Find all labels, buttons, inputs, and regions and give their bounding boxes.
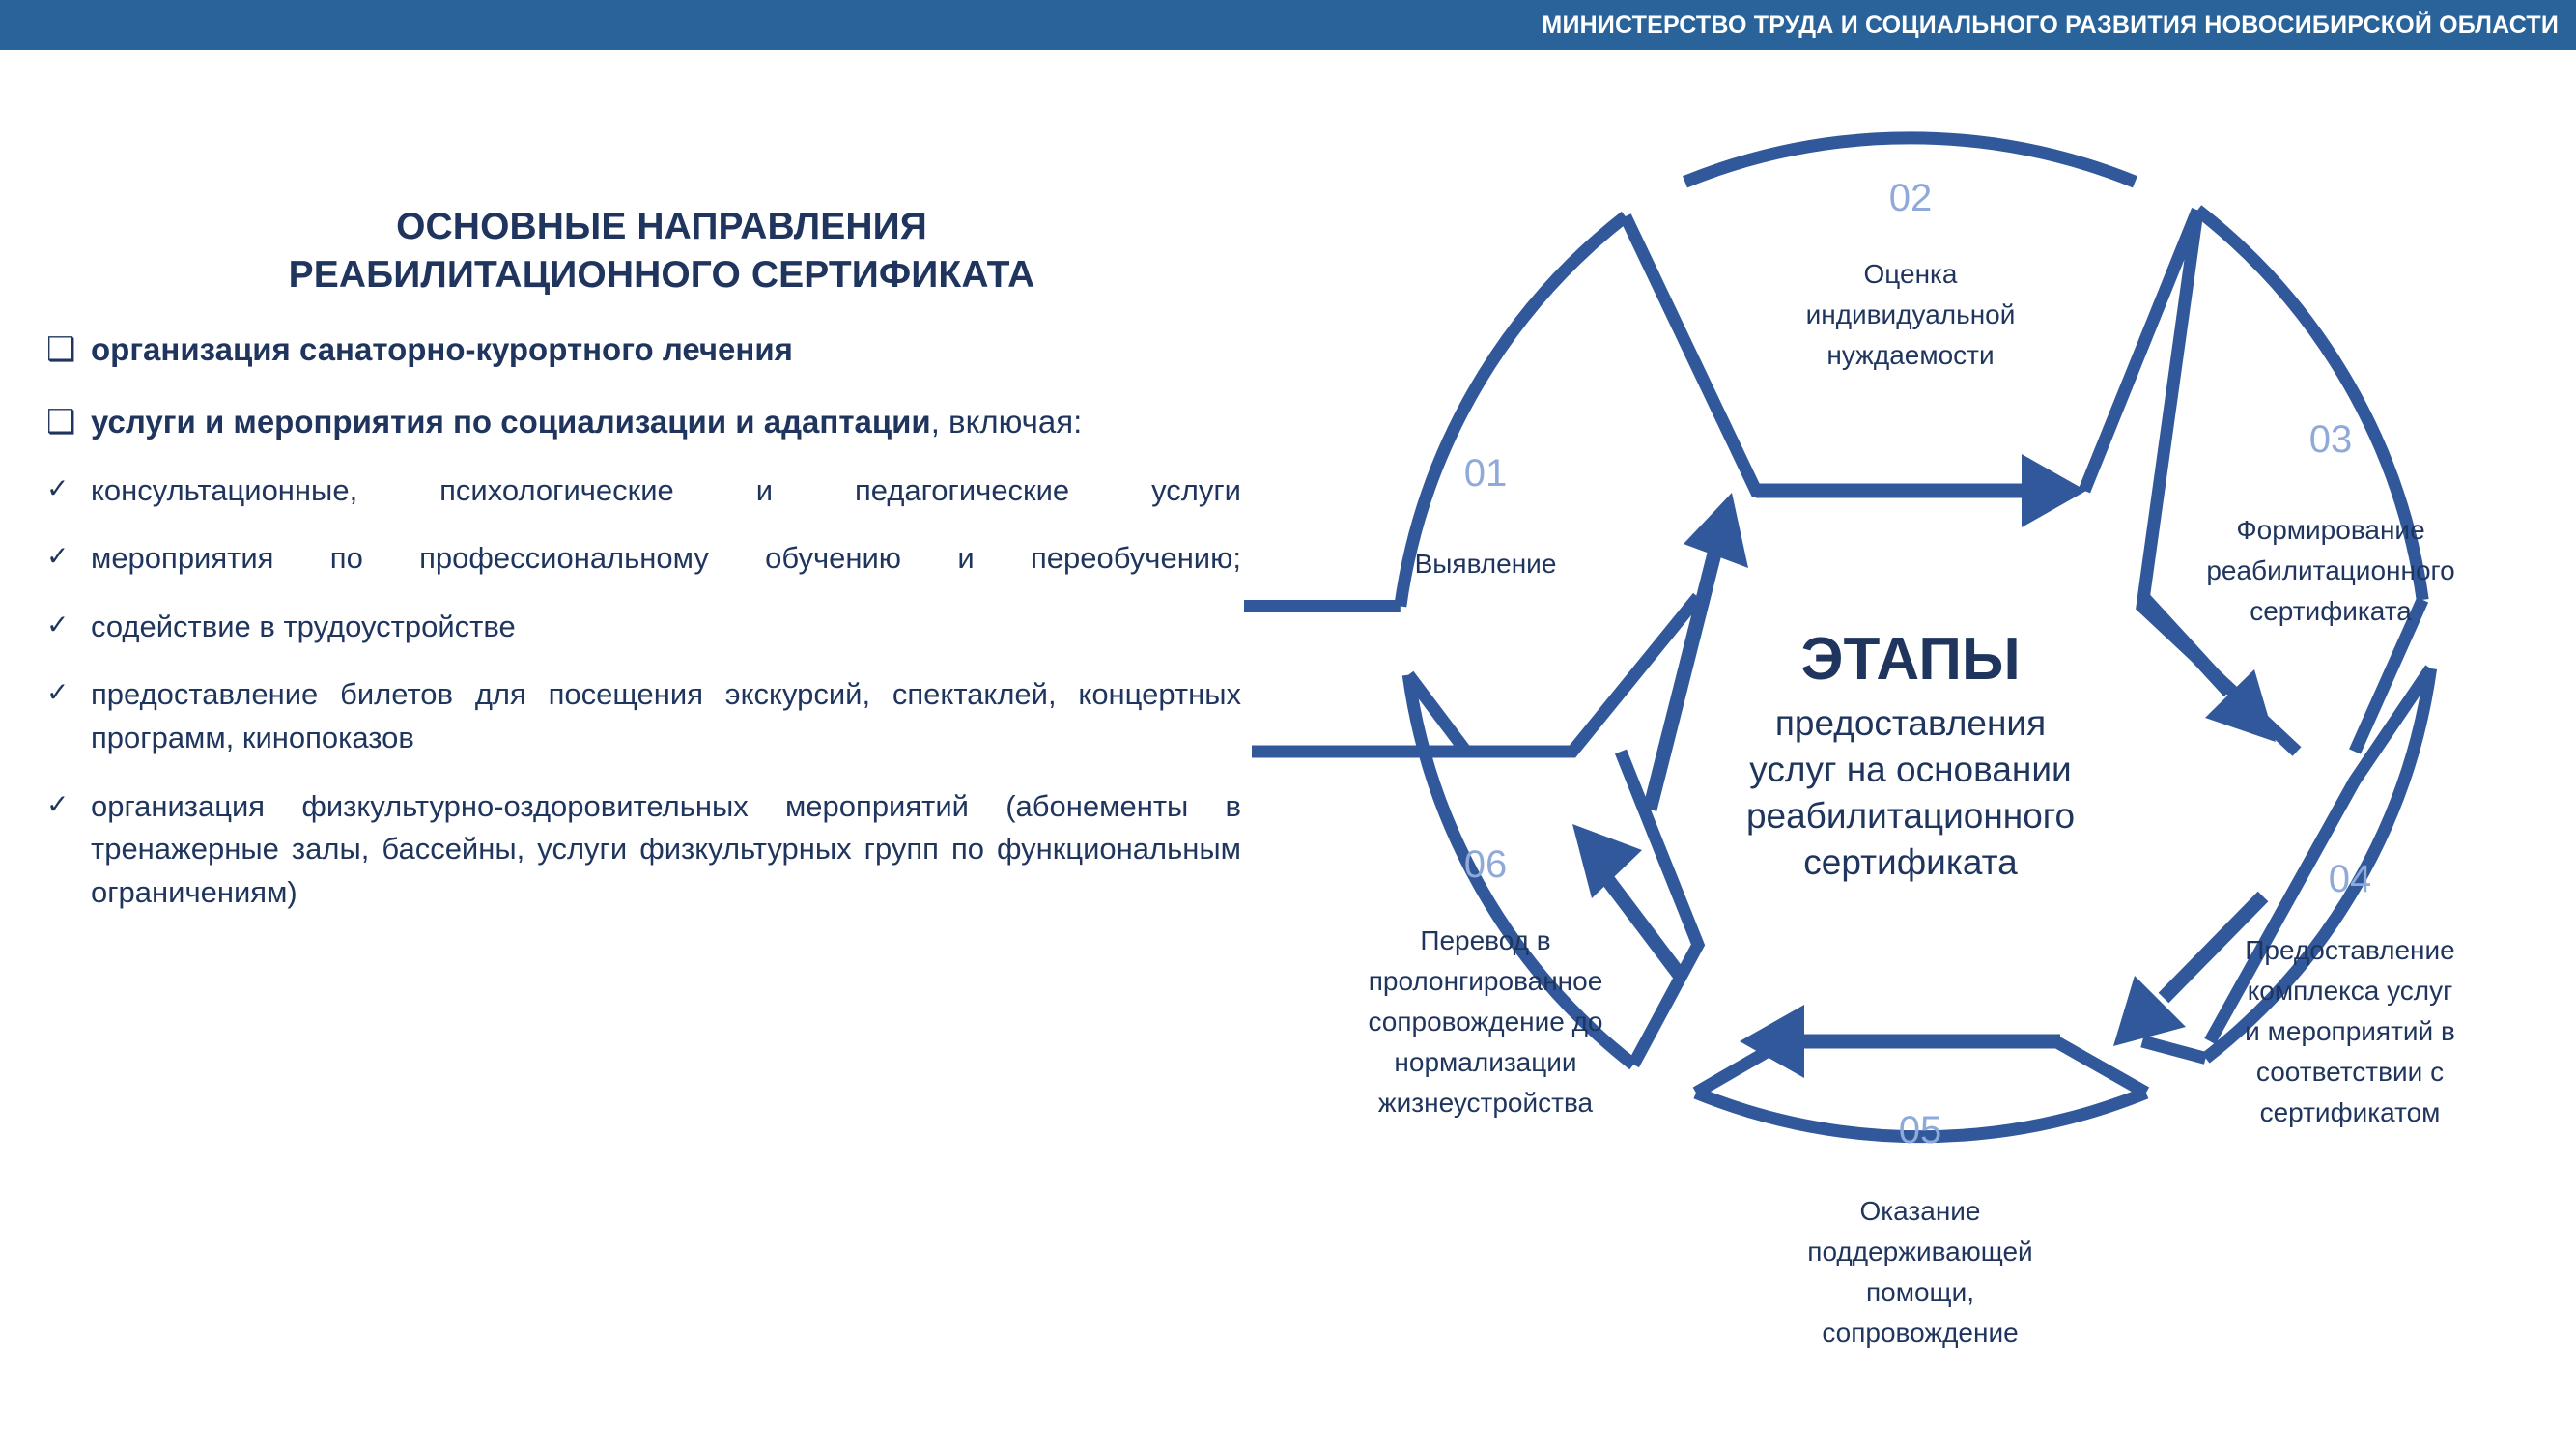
- arrow-06-to-01-shaft: [1604, 875, 1679, 974]
- segment-01-number: 01: [1464, 452, 1508, 495]
- cycle-diagram-svg: 01 Выявление 02 Оценка индивидуальной ну…: [1244, 114, 2576, 1449]
- segment-03-label-line-1: Формирование: [2236, 515, 2424, 545]
- square-bullet-icon: ❑: [46, 328, 91, 372]
- segment-04[interactable]: 04 Предоставление комплекса услуг и меро…: [2245, 858, 2455, 1127]
- list-item-check-4: ✓ предоставление билетов для посещения э…: [0, 673, 1285, 759]
- segment-04-label-line-2: комплекса услуг: [2248, 976, 2453, 1006]
- segment-06[interactable]: 06 Перевод в пролонгированное сопровожде…: [1368, 843, 1602, 1118]
- header-band: МИНИСТЕРСТВО ТРУДА И СОЦИАЛЬНОГО РАЗВИТИ…: [0, 0, 2576, 50]
- list-item-check-2: ✓ мероприятия по профессиональному обуче…: [0, 537, 1285, 581]
- segment-05-label-line-1: Оказание: [1860, 1196, 1981, 1226]
- center-subtitle-line-4: сертификата: [1803, 842, 2018, 882]
- arrow-02-to-03-head: [2022, 454, 2086, 527]
- center-heading: ЭТАПЫ: [1800, 626, 2020, 693]
- header-title: МИНИСТЕРСТВО ТРУДА И СОЦИАЛЬНОГО РАЗВИТИ…: [1542, 12, 2559, 40]
- segment-05-label-line-2: поддерживающей: [1807, 1236, 2032, 1266]
- list-item-text: консультационные, психологические и педа…: [91, 469, 1241, 513]
- segment-04-label-line-5: сертификатом: [2260, 1097, 2441, 1127]
- arrow-01-to-02-shaft: [1650, 554, 1714, 810]
- diagram-center-label: ЭТАПЫ предоставления услуг на основании …: [1746, 626, 2075, 882]
- list-item-check-3: ✓ содействие в трудоустройстве: [0, 606, 1285, 649]
- segment-06-label-line-3: сопровождение до: [1368, 1007, 1602, 1037]
- check-bullet-icon: ✓: [46, 606, 91, 644]
- left-content-panel: ОСНОВНЫЕ НАПРАВЛЕНИЯ РЕАБИЛИТАЦИОННОГО С…: [0, 58, 1285, 1430]
- segment-05-label-line-4: сопровождение: [1822, 1318, 2018, 1348]
- segment-02-number: 02: [1889, 177, 1933, 219]
- cycle-diagram: 01 Выявление 02 Оценка индивидуальной ну…: [1244, 114, 2576, 1449]
- check-bullet-icon: ✓: [46, 469, 91, 508]
- ring-arc-01: [1401, 216, 1626, 607]
- center-subtitle-line-2: услуг на основании: [1749, 750, 2071, 789]
- list-item-square-2: ❑ услуги и мероприятия по социализации и…: [0, 401, 1285, 444]
- segment-05[interactable]: 05 Оказание поддерживающей помощи, сопро…: [1807, 1109, 2032, 1348]
- directions-list: ❑ организация санаторно-курортного лечен…: [0, 328, 1285, 915]
- check-bullet-icon: ✓: [46, 537, 91, 576]
- segment-outline-01b: [1252, 597, 1698, 752]
- segment-02-label-line-1: Оценка: [1864, 259, 1958, 289]
- segment-06-number: 06: [1464, 843, 1508, 886]
- page-title: ОСНОВНЫЕ НАПРАВЛЕНИЯ РЕАБИЛИТАЦИОННОГО С…: [0, 203, 1285, 299]
- list-item-check-5: ✓ организация физкультурно-оздоровительн…: [0, 785, 1285, 915]
- arrow-03-to-04-shaft: [2142, 597, 2229, 692]
- list-item-check-1: ✓ консультационные, психологические и пе…: [0, 469, 1285, 513]
- segment-02[interactable]: 02 Оценка индивидуальной нуждаемости: [1806, 177, 2016, 370]
- segment-05-label-line-3: помощи,: [1866, 1277, 1974, 1307]
- segment-06-label-line-2: пролонгированное: [1369, 966, 1603, 996]
- square-bullet-icon: ❑: [46, 401, 91, 444]
- page-title-line-1: ОСНОВНЫЕ НАПРАВЛЕНИЯ: [184, 203, 1140, 251]
- segment-outline-02: [1626, 216, 1790, 491]
- segment-04-label-line-1: Предоставление: [2245, 935, 2454, 965]
- check-bullet-icon: ✓: [46, 785, 91, 824]
- segment-02-label-line-3: нуждаемости: [1826, 340, 1994, 370]
- list-item-square-1: ❑ организация санаторно-курортного лечен…: [0, 328, 1285, 372]
- segment-03-label-line-3: сертификата: [2250, 596, 2412, 626]
- check-bullet-icon: ✓: [46, 673, 91, 712]
- list-item-bold-text: организация санаторно-курортного лечения: [91, 331, 793, 367]
- list-item-text: мероприятия по профессиональному обучени…: [91, 537, 1241, 581]
- list-item-text: услуги и мероприятия по социализации и а…: [91, 401, 1241, 443]
- segment-04-label-line-4: соответствии с: [2256, 1057, 2444, 1087]
- segment-04-label-line-3: и мероприятий в: [2245, 1016, 2455, 1046]
- ring-arc-02: [1685, 138, 2136, 182]
- segment-06-label-line-4: нормализации: [1394, 1047, 1576, 1077]
- page-title-line-2: РЕАБИЛИТАЦИОННОГО СЕРТИФИКАТА: [184, 251, 1140, 299]
- center-subtitle-line-1: предоставления: [1775, 703, 2046, 743]
- segment-outline-04b: [2142, 1041, 2206, 1059]
- center-subtitle-line-3: реабилитационного: [1746, 796, 2075, 836]
- segment-01-label-line-1: Выявление: [1415, 549, 1557, 579]
- list-item-text: предоставление билетов для посещения экс…: [91, 673, 1241, 759]
- segment-05-number: 05: [1899, 1109, 1942, 1151]
- segment-06-label-line-1: Перевод в: [1420, 925, 1550, 955]
- segment-outline-05: [1824, 1041, 2146, 1093]
- segment-04-number: 04: [2329, 858, 2372, 900]
- segment-06-label-line-5: жизнеустройства: [1378, 1088, 1594, 1118]
- segment-03-label-line-2: реабилитационного: [2206, 555, 2454, 585]
- list-item-regular-text: , включая:: [931, 404, 1083, 440]
- list-item-text: содействие в трудоустройстве: [91, 606, 1241, 649]
- list-item-bold-text: услуги и мероприятия по социализации и а…: [91, 404, 931, 440]
- list-item-text: организация физкультурно-оздоровительных…: [91, 785, 1241, 915]
- segment-02-label-line-2: индивидуальной: [1806, 299, 2016, 329]
- segment-03-number: 03: [2309, 418, 2353, 461]
- list-item-text: организация санаторно-курортного лечения: [91, 328, 1241, 371]
